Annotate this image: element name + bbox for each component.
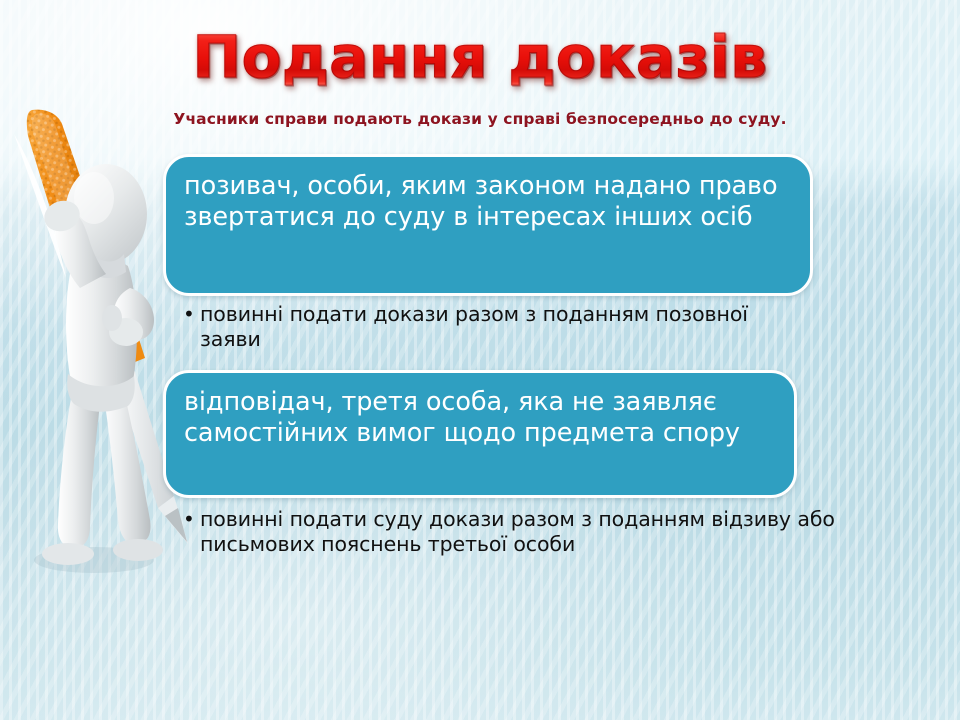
callout-box-plaintiff: позивач, особи, яким законом надано прав… <box>163 154 813 296</box>
callout-box-defendant: відповідач, третя особа, яка не заявляє … <box>163 370 797 498</box>
slide-canvas: Подання доказів Учасники справи подають … <box>0 0 960 720</box>
bullet-dot-icon: • <box>183 507 200 532</box>
page-title: Подання доказів <box>193 28 768 86</box>
list-item-label: повинні подати докази разом з поданням п… <box>200 302 803 353</box>
list-item-label: повинні подати суду докази разом з подан… <box>200 507 843 558</box>
list-item: • повинні подати докази разом з поданням… <box>183 302 803 353</box>
subtitle: Учасники справи подають докази у справі … <box>0 110 960 128</box>
bullet-dot-icon: • <box>183 302 200 327</box>
person-with-quill-illustration <box>2 92 192 592</box>
title-container: Подання доказів <box>0 28 960 86</box>
list-item: • повинні подати суду докази разом з под… <box>183 507 843 558</box>
